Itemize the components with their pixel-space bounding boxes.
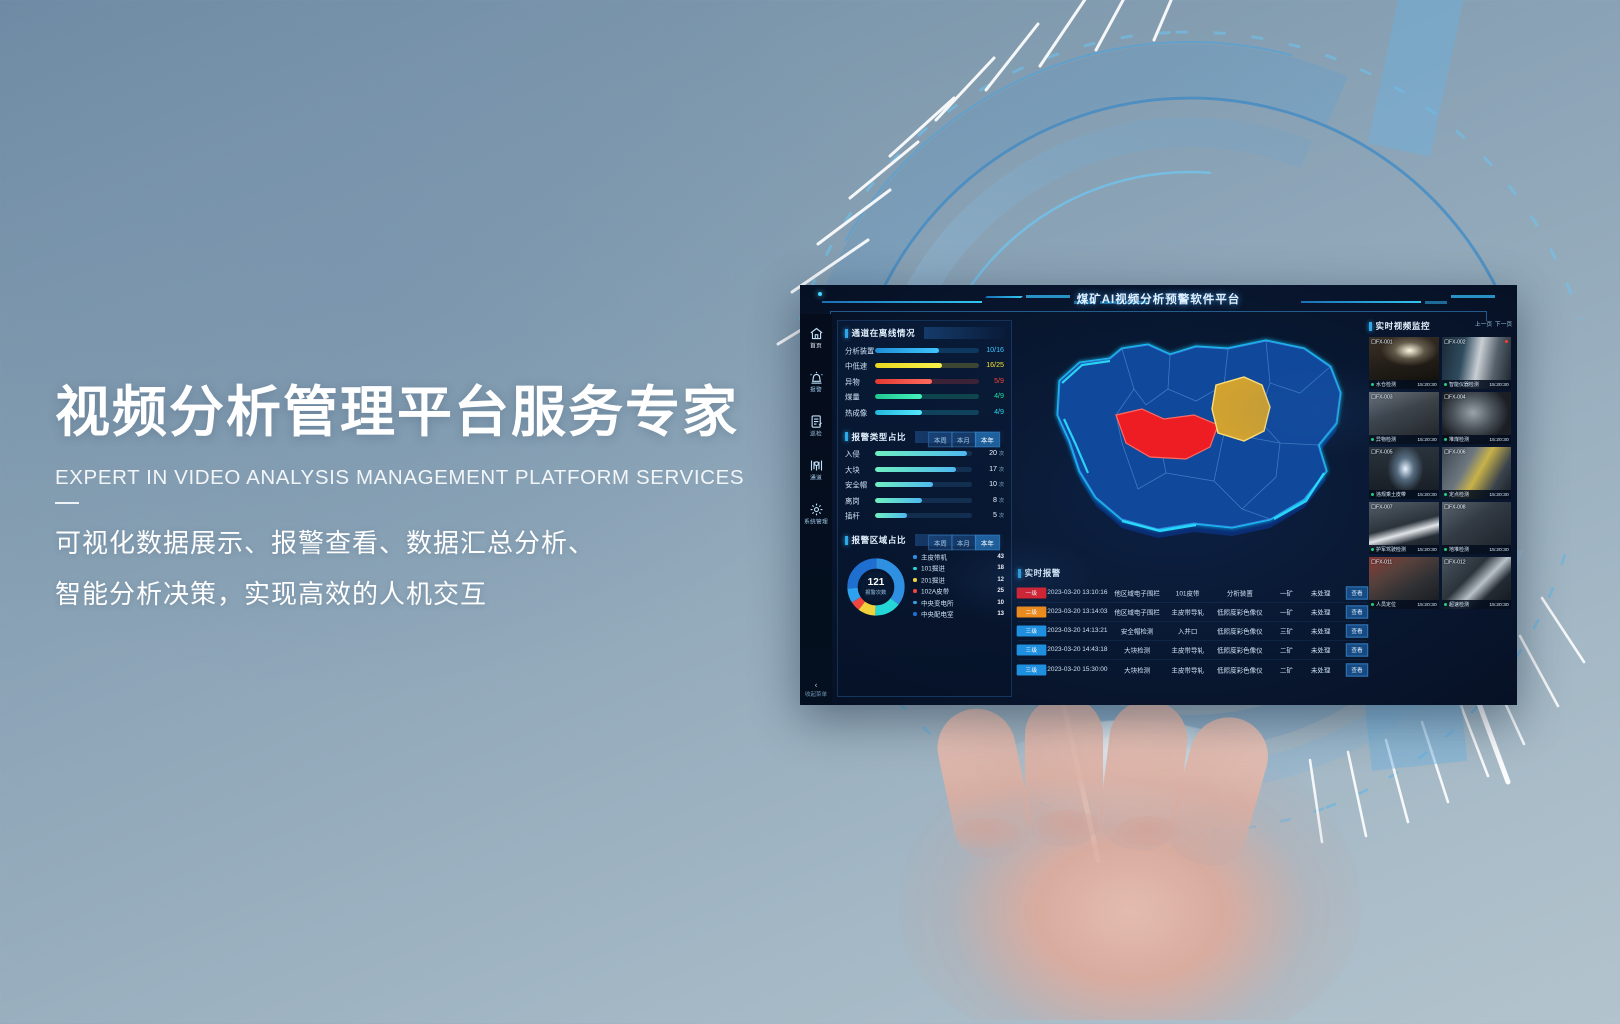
- video-tile[interactable]: 口FX-004 堆煤检测 15:20:30: [1442, 392, 1512, 444]
- alarm-type-track: [875, 467, 972, 472]
- sidebar-item-inspection[interactable]: 巡检: [801, 414, 831, 437]
- table-row[interactable]: 三级 2023-03-20 14:13:21 安全帽检测 入井口 低照度彩色像仪…: [1018, 622, 1367, 641]
- camera-code: 口FX-004: [1444, 394, 1466, 401]
- hero-description-line-2: 智能分析决策，实现高效的人机交互: [55, 569, 815, 620]
- alarm-icon: [809, 370, 824, 385]
- alarm-device: 分析装置: [1207, 588, 1274, 597]
- alarm-type: 大块检测: [1105, 665, 1168, 674]
- view-button[interactable]: 查看: [1346, 624, 1368, 637]
- channel-row-fill: [875, 394, 922, 399]
- panel-accent-bar: [845, 329, 848, 338]
- legend-color-dot: [913, 589, 917, 593]
- camera-time: 15:20:30: [1490, 547, 1509, 553]
- legend-color-dot: [913, 555, 917, 559]
- channel-row-value: 5/9: [975, 377, 1004, 385]
- dashboard-title: 煤矿AI视频分析预警软件平台: [800, 291, 1517, 307]
- video-monitor-panel: 实时视频监控 上一页 下一页 口FX-001 水仓检测 15:20:30 口FX…: [1369, 320, 1511, 697]
- alarm-type-track: [875, 513, 972, 518]
- alarm-type-value: 8: [968, 496, 997, 504]
- alarm-device: 低照度彩色像仪: [1207, 645, 1274, 654]
- video-grid: 口FX-001 水仓检测 15:20:30 口FX-002 智能仪器检测 15:…: [1369, 337, 1511, 609]
- alarm-type-track: [875, 451, 972, 456]
- channel-row-fill: [875, 379, 932, 384]
- camera-time: 15:20:30: [1417, 382, 1436, 388]
- camera-code: 口FX-011: [1371, 559, 1392, 566]
- view-button[interactable]: 查看: [1346, 643, 1368, 656]
- view-button[interactable]: 查看: [1346, 586, 1368, 599]
- channel-status-panel: 通道在离线情况 分析装置 10/16 中低速: [845, 327, 1004, 417]
- alarm-type: 他区域电子围栏: [1105, 607, 1168, 616]
- camera-code: 口FX-007: [1371, 504, 1393, 511]
- channel-row-value: 4/9: [975, 408, 1004, 416]
- camera-code: 口FX-003: [1371, 394, 1393, 401]
- channel-row-fill: [875, 348, 939, 353]
- hand-holding-sphere-image: [850, 690, 1410, 1020]
- alarm-time: 2023-03-20 14:13:21: [1040, 628, 1115, 635]
- alarm-device: 低照度彩色像仪: [1207, 626, 1274, 635]
- camera-time: 15:20:30: [1417, 547, 1436, 553]
- video-tile[interactable]: 口FX-005 违规乘土皮带 15:20:30: [1369, 447, 1439, 499]
- online-indicator: [1371, 493, 1374, 496]
- camera-time: 15:20:30: [1417, 492, 1436, 498]
- video-tile[interactable]: 口FX-003 异物检测 15:20:30: [1369, 392, 1439, 444]
- tab-month[interactable]: 本月: [951, 431, 976, 447]
- camera-time: 15:20:30: [1490, 492, 1509, 498]
- video-tile[interactable]: 口FX-006 定点检测 15:20:30: [1442, 447, 1512, 499]
- tab-year[interactable]: 本年: [975, 535, 1000, 551]
- channel-status-row: 热成像 4/9: [845, 408, 1004, 417]
- alarm-state: 未处理: [1301, 626, 1340, 635]
- channel-row-track: [875, 379, 979, 384]
- legend-color-dot: [913, 567, 917, 571]
- alarm-state: 未处理: [1301, 665, 1340, 674]
- panel-accent-bar: [1369, 322, 1372, 331]
- channel-icon: [809, 458, 824, 473]
- recording-indicator: [1505, 340, 1508, 343]
- alarm-type-fill: [875, 513, 907, 518]
- alarm-time: 2023-03-20 14:43:18: [1040, 647, 1115, 654]
- page-title: 视频分析管理平台服务专家: [55, 383, 815, 442]
- alarm-type-fill: [875, 482, 933, 487]
- donut-center-value: 121: [868, 578, 885, 588]
- online-indicator: [1444, 548, 1447, 551]
- tab-month[interactable]: 本月: [951, 535, 976, 551]
- alarm-time: 2023-03-20 15:30:00: [1040, 666, 1115, 673]
- channel-row-fill: [875, 363, 942, 368]
- legend-item: 中央配电室 13: [913, 610, 1004, 618]
- alarm-type-fill: [875, 498, 922, 503]
- channel-row-value: 10/16: [975, 346, 1004, 354]
- legend-item: 主皮带机 43: [913, 553, 1004, 561]
- alarm-type-panel-title: 报警类型占比: [852, 431, 907, 443]
- camera-code: 口FX-002: [1444, 339, 1466, 346]
- video-tile[interactable]: 口FX-012 超速检测 15:20:30: [1442, 557, 1512, 609]
- tab-year[interactable]: 本年: [975, 431, 1000, 447]
- online-indicator: [1371, 438, 1374, 441]
- channel-row-value: 16/25: [975, 361, 1004, 369]
- alarm-type-row: 离岗 8 次: [845, 496, 1004, 505]
- channel-row-track: [875, 363, 979, 368]
- hero-copy: 视频分析管理平台服务专家 EXPERT IN VIDEO ANALYSIS MA…: [55, 383, 815, 620]
- alarm-area-panel-title: 报警区域占比: [852, 534, 907, 546]
- camera-time: 15:20:30: [1490, 382, 1509, 388]
- legend-color-dot: [913, 601, 917, 605]
- camera-time: 15:20:30: [1417, 602, 1436, 608]
- channel-status-row: 分析装置 10/16: [845, 346, 1004, 355]
- alarm-type: 安全帽检测: [1105, 626, 1168, 635]
- legend-label: 102A皮带: [921, 587, 1010, 596]
- tab-week[interactable]: 本周: [928, 535, 953, 551]
- alarm-type-panel: 报警类型占比 本周 本月 本年 入侵 20 次: [845, 431, 1004, 521]
- donut-legend: 主皮带机 43 101掘进 18 201掘进 12: [913, 553, 1004, 621]
- alarm-type-list: 入侵 20 次 大块 17 次: [845, 449, 1004, 520]
- legend-item: 中央变电所 10: [913, 599, 1004, 607]
- table-row[interactable]: 二级 2023-03-20 13:14:03 他区域电子围栏 主皮带导轧 低照度…: [1018, 603, 1367, 622]
- divider-rule: [55, 502, 79, 504]
- channel-status-row: 异物 5/9: [845, 377, 1004, 386]
- camera-code: 口FX-006: [1444, 449, 1466, 456]
- alarm-type-row: 安全帽 10 次: [845, 480, 1004, 489]
- table-row[interactable]: 三级 2023-03-20 15:30:00 大块检测 主皮带导轧 低照度彩色像…: [1018, 660, 1367, 679]
- online-indicator: [1444, 603, 1447, 606]
- legend-color-dot: [913, 578, 917, 582]
- legend-label: 主皮带机: [921, 552, 1010, 561]
- camera-code: 口FX-005: [1371, 449, 1393, 456]
- channel-status-row: 中低速 16/25: [845, 361, 1004, 370]
- video-pagination[interactable]: 上一页 下一页: [1476, 321, 1511, 328]
- channel-status-panel-title: 通道在离线情况: [852, 327, 916, 339]
- hero-subtitle-en: EXPERT IN VIDEO ANALYSIS MANAGEMENT PLAT…: [55, 466, 815, 490]
- alarm-type-unit: 次: [999, 481, 1004, 488]
- channel-row-track: [875, 410, 979, 415]
- donut-center-label: 报警次数: [865, 590, 886, 597]
- online-indicator: [1371, 548, 1374, 551]
- sidebar-item-system[interactable]: 系统管理: [801, 502, 831, 525]
- prev-page-button[interactable]: 上一页: [1475, 320, 1492, 328]
- sidebar-item-system-label: 系统管理: [800, 518, 835, 526]
- inspection-icon: [809, 414, 824, 429]
- video-tile[interactable]: 口FX-001 水仓检测 15:20:30: [1369, 337, 1439, 389]
- left-stats-column: 通道在离线情况 分析装置 10/16 中低速: [837, 320, 1012, 697]
- province-map[interactable]: [1018, 323, 1383, 558]
- sidebar[interactable]: 首页 报警 巡检 通道: [800, 314, 832, 705]
- online-indicator: [1444, 493, 1447, 496]
- realtime-alarm-panel: 实时报警 一级 2023-03-20 13:10:16 他区域电子围栏 101皮…: [1018, 567, 1367, 697]
- alarm-type-unit: 次: [999, 466, 1004, 473]
- camera-code: 口FX-001: [1371, 339, 1393, 346]
- alarm-type: 大块检测: [1105, 645, 1168, 654]
- realtime-alarm-title: 实时报警: [1025, 567, 1061, 579]
- panel-accent-bar: [845, 432, 848, 441]
- online-indicator: [1371, 603, 1374, 606]
- alarm-table: 一级 2023-03-20 13:10:16 他区域电子围栏 101皮带 分析装…: [1018, 584, 1367, 679]
- video-tile[interactable]: 口FX-002 智能仪器检测 15:20:30: [1442, 337, 1512, 389]
- alarm-type-unit: 次: [999, 497, 1004, 504]
- alarm-state: 未处理: [1301, 607, 1340, 616]
- alarm-area-donut-chart: 121 报警次数: [845, 556, 907, 618]
- dashboard-header: 煤矿AI视频分析预警软件平台: [800, 285, 1517, 314]
- panel-accent-bar: [845, 536, 848, 545]
- alarm-type-row: 入侵 20 次: [845, 449, 1004, 458]
- table-row[interactable]: 一级 2023-03-20 13:10:16 他区域电子围栏 101皮带 分析装…: [1018, 584, 1367, 603]
- alarm-type-value: 10: [968, 480, 997, 488]
- video-tile[interactable]: 口FX-008 地堆检测 15:20:30: [1442, 502, 1512, 554]
- video-tile[interactable]: 口FX-007 护军驾驶检测 15:20:30: [1369, 502, 1439, 554]
- channel-row-track: [875, 348, 979, 353]
- video-panel-title: 实时视频监控: [1376, 320, 1431, 332]
- alarm-time: 2023-03-20 13:14:03: [1040, 609, 1115, 616]
- alarm-type-range-tabs[interactable]: 本周 本月 本年: [930, 433, 998, 446]
- legend-label: 中央配电室: [921, 609, 1010, 618]
- alarm-device: 低照度彩色像仪: [1207, 665, 1274, 674]
- video-tile[interactable]: 口FX-011 人员定位 15:20:30: [1369, 557, 1439, 609]
- online-indicator: [1371, 383, 1374, 386]
- channel-status-row: 煤量 4/9: [845, 392, 1004, 401]
- alarm-type-row: 插杆 5 次: [845, 511, 1004, 520]
- alarm-type-track: [875, 482, 972, 487]
- alarm-area-range-tabs[interactable]: 本周 本月 本年: [930, 536, 998, 549]
- sidebar-collapse-button[interactable]: ‹ 收起菜单: [800, 682, 835, 699]
- legend-item: 102A皮带 25: [913, 587, 1004, 595]
- donut-center: 121 报警次数: [861, 572, 891, 602]
- view-button[interactable]: 查看: [1346, 605, 1368, 618]
- view-button[interactable]: 查看: [1346, 663, 1368, 676]
- alarm-type: 他区域电子围栏: [1105, 588, 1168, 597]
- channel-status-list: 分析装置 10/16 中低速 16/25 异物: [845, 346, 1004, 417]
- sidebar-item-channel-label: 通道: [800, 474, 835, 482]
- sidebar-collapse-label: 收起菜单: [805, 691, 827, 697]
- table-row[interactable]: 三级 2023-03-20 14:43:18 大块检测 主皮带导轧 低照度彩色像…: [1018, 641, 1367, 660]
- alarm-type-fill: [875, 451, 967, 456]
- hero-description: 可视化数据展示、报警查看、数据汇总分析、 智能分析决策，实现高效的人机交互: [55, 518, 815, 619]
- alarm-area-panel: 报警区域占比 本周 本月 本年: [845, 534, 1004, 621]
- hero-description-line-1: 可视化数据展示、报警查看、数据汇总分析、: [55, 518, 815, 569]
- alarm-type-unit: 次: [999, 512, 1004, 519]
- sidebar-item-home-label: 首页: [800, 342, 835, 350]
- legend-item: 201掘进 12: [913, 576, 1004, 584]
- alarm-device: 低照度彩色像仪: [1207, 607, 1274, 616]
- alarm-time: 2023-03-20 13:10:16: [1040, 590, 1115, 597]
- alarm-type-unit: 次: [999, 450, 1004, 457]
- sidebar-item-inspection-label: 巡检: [800, 430, 835, 438]
- map-svg: [1018, 323, 1383, 558]
- panel-title-strip: [924, 327, 1004, 339]
- dashboard-screen: 煤矿AI视频分析预警软件平台 首页 报警: [800, 285, 1517, 705]
- next-page-button[interactable]: 下一页: [1495, 320, 1512, 328]
- panel-accent-bar: [1018, 569, 1021, 578]
- alarm-type-track: [875, 498, 972, 503]
- channel-row-track: [875, 394, 979, 399]
- alarm-state: 未处理: [1301, 645, 1340, 654]
- legend-label: 101掘进: [921, 564, 1010, 573]
- camera-time: 15:20:30: [1490, 602, 1509, 608]
- alarm-type-row: 大块 17 次: [845, 465, 1004, 474]
- camera-time: 15:20:30: [1490, 437, 1509, 443]
- sidebar-item-home[interactable]: 首页: [801, 326, 831, 349]
- camera-code: 口FX-012: [1444, 559, 1466, 566]
- gear-icon: [809, 502, 824, 517]
- legend-item: 101掘进 18: [913, 564, 1004, 572]
- tab-week[interactable]: 本周: [928, 431, 953, 447]
- alarm-state: 未处理: [1301, 588, 1340, 597]
- online-indicator: [1444, 383, 1447, 386]
- alarm-type-value: 17: [968, 465, 997, 473]
- channel-row-fill: [875, 410, 922, 415]
- legend-label: 中央变电所: [921, 598, 1010, 607]
- sidebar-item-channel[interactable]: 通道: [801, 458, 831, 481]
- alarm-type-value: 20: [968, 449, 997, 457]
- chevron-left-icon: ‹: [800, 682, 835, 690]
- legend-label: 201掘进: [921, 575, 1010, 584]
- sidebar-item-alarm-label: 报警: [800, 386, 835, 394]
- sidebar-item-alarm[interactable]: 报警: [801, 370, 831, 393]
- camera-code: 口FX-008: [1444, 504, 1466, 511]
- alarm-type-value: 5: [968, 511, 997, 519]
- home-icon: [809, 326, 824, 341]
- alarm-type-fill: [875, 467, 956, 472]
- legend-color-dot: [913, 612, 917, 616]
- online-indicator: [1444, 438, 1447, 441]
- channel-row-value: 4/9: [975, 392, 1004, 400]
- camera-time: 15:20:30: [1417, 437, 1436, 443]
